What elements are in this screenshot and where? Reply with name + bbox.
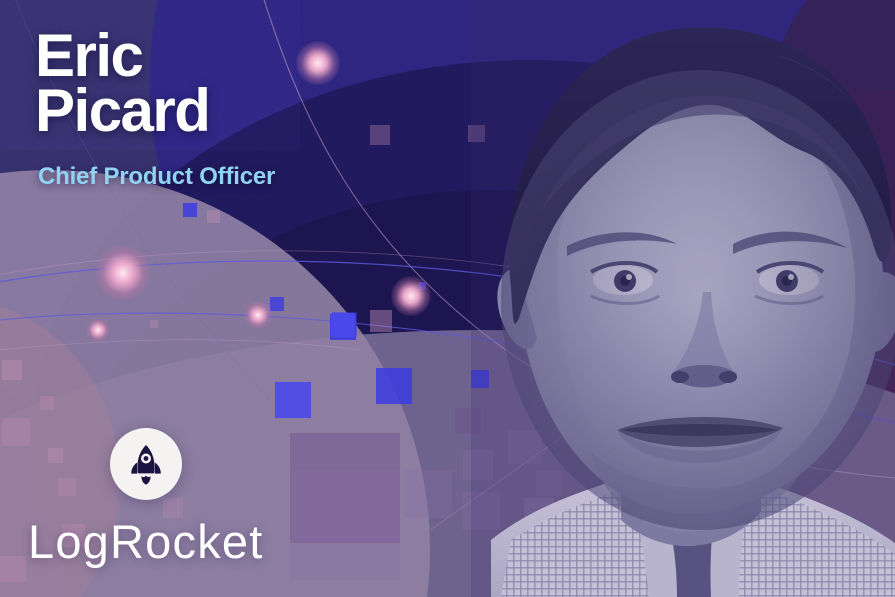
rocket-icon-glyph (124, 442, 168, 486)
decorative-square (270, 297, 284, 311)
decorative-star (86, 318, 110, 342)
decorative-square (207, 210, 220, 223)
logrocket-logo: LogRocket (28, 428, 264, 569)
decorative-star (244, 301, 272, 329)
decorative-square (330, 314, 356, 340)
film-grain-overlay (0, 0, 300, 150)
decorative-star (95, 245, 151, 301)
decorative-square (290, 433, 400, 543)
rocket-icon (110, 428, 182, 500)
decorative-square (183, 203, 197, 217)
decorative-square (290, 470, 400, 580)
decorative-square (2, 360, 22, 380)
speaker-announcement-card: Eric Picard Chief Product Officer LogRoc… (0, 0, 895, 597)
decorative-square (376, 368, 412, 404)
decorative-square (40, 396, 54, 410)
decorative-star (391, 276, 431, 316)
decorative-square (331, 313, 355, 337)
decorative-square (150, 320, 158, 328)
decorative-square (418, 282, 426, 290)
decorative-star (296, 41, 340, 85)
logrocket-wordmark: LogRocket (28, 514, 264, 569)
decorative-square (2, 418, 30, 446)
decorative-square (404, 470, 452, 518)
decorative-square (275, 382, 311, 418)
decorative-square (370, 125, 390, 145)
decorative-square (0, 556, 26, 582)
speaker-portrait-illustration (471, 0, 895, 597)
decorative-square (370, 310, 392, 332)
speaker-role: Chief Product Officer (38, 163, 275, 191)
decorative-square (332, 312, 357, 337)
speaker-portrait (471, 0, 895, 597)
